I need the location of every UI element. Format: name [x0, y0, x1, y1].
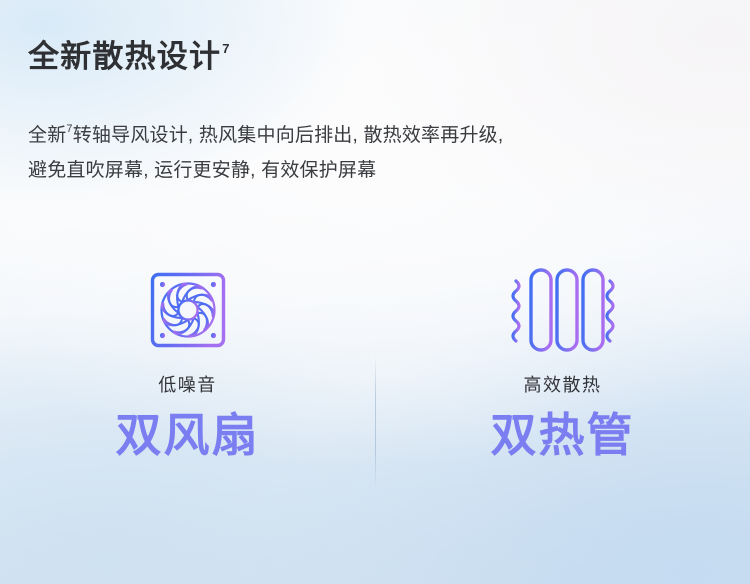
subtitle-line-1-rest: 转轴导风设计, 热风集中向后排出, 散热效率再升级, [73, 125, 504, 146]
page-title-text: 全新散热设计 [28, 39, 221, 74]
subtitle-line-2: 避免直吹屏幕, 运行更安静, 有效保护屏幕 [28, 153, 668, 188]
subtitle-block: 全新7转轴导风设计, 热风集中向后排出, 散热效率再升级, 避免直吹屏幕, 运行… [28, 118, 668, 188]
page-title-superscript: 7 [222, 41, 229, 56]
feature-headline-heatpipe: 双热管 [491, 410, 635, 462]
subtitle-prefix: 全新 [28, 125, 66, 146]
subtitle-line-1: 全新7转轴导风设计, 热风集中向后排出, 散热效率再升级, [28, 118, 668, 153]
feature-column-heatpipe: 高效散热 双热管 [375, 262, 750, 462]
feature-caption-fan: 低噪音 [158, 376, 217, 394]
feature-column-fan: 低噪音 双风扇 [0, 262, 375, 462]
column-divider [375, 355, 376, 490]
heading-block: 全新散热设计7 [28, 38, 718, 77]
page-title: 全新散热设计7 [28, 38, 718, 77]
feature-caption-heatpipe: 高效散热 [524, 376, 602, 394]
heat-pipe-icon [509, 262, 617, 358]
cooling-fan-icon [149, 262, 227, 358]
feature-headline-fan: 双风扇 [116, 410, 260, 462]
promo-page: 全新散热设计7 全新7转轴导风设计, 热风集中向后排出, 散热效率再升级, 避免… [0, 0, 750, 584]
subtitle-superscript: 7 [66, 123, 72, 135]
